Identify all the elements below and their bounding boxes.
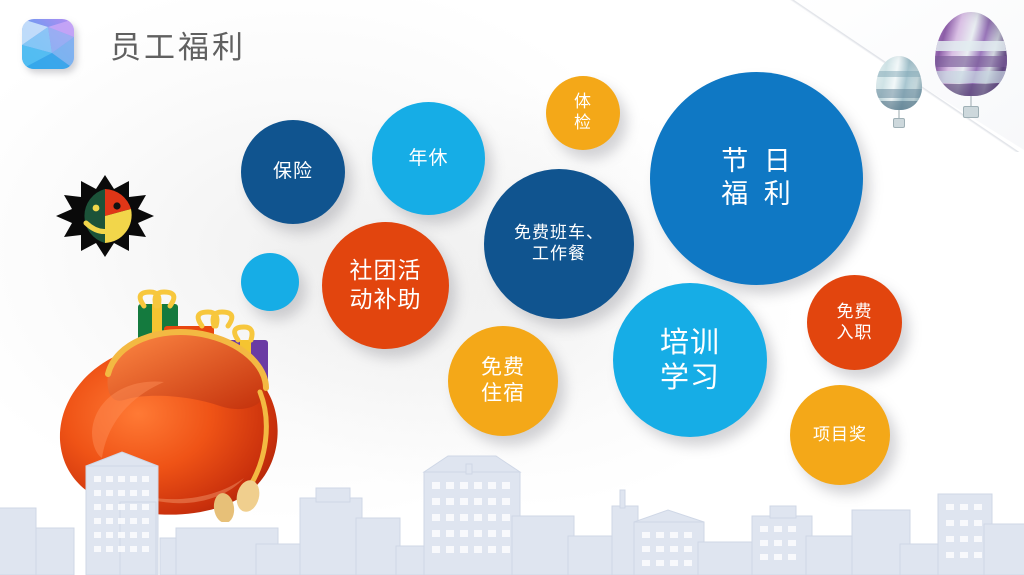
- hot-air-balloon-large: [935, 12, 1007, 117]
- star-face-clipart: [55, 175, 155, 257]
- benefit-bubble-training-study[interactable]: 培训 学习: [613, 283, 767, 437]
- benefit-bubble-label: 社团活 动补助: [350, 257, 422, 313]
- benefit-bubble-free-onboarding[interactable]: 免费 入职: [807, 275, 902, 370]
- benefit-bubble-label: 培训 学习: [660, 325, 720, 396]
- benefit-bubble-project-award[interactable]: 项目奖: [790, 385, 890, 485]
- benefit-bubble-insurance[interactable]: 保险: [241, 120, 345, 224]
- benefit-bubble-free-housing[interactable]: 免费 住宿: [448, 326, 558, 436]
- gradient-app-icon: [22, 19, 74, 69]
- benefit-bubble-label: 免费 住宿: [481, 355, 525, 406]
- benefit-bubble-shuttle-meals[interactable]: 免费班车、 工作餐: [484, 169, 634, 319]
- benefit-bubble-label: 保险: [273, 160, 313, 183]
- slide-canvas: 员工福利: [0, 0, 1024, 575]
- title-app-icon: [22, 19, 74, 69]
- benefit-bubble-label: 体 检: [574, 92, 592, 133]
- benefit-bubble-label: 免费班车、 工作餐: [514, 223, 604, 264]
- benefit-bubble-health-checkup[interactable]: 体 检: [546, 76, 620, 150]
- page-title: 员工福利: [110, 22, 246, 67]
- benefit-bubble-holiday-benefit[interactable]: 节 日 福 利: [650, 72, 863, 285]
- benefit-bubble-label: 项目奖: [813, 425, 867, 446]
- benefit-bubble-label: 年休: [408, 147, 448, 170]
- benefit-bubble-annual-leave[interactable]: 年休: [372, 102, 485, 215]
- benefit-bubble-label: 免费 入职: [837, 302, 873, 343]
- benefit-bubble-small-accent[interactable]: [241, 253, 299, 311]
- benefit-bubble-club-subsidy[interactable]: 社团活 动补助: [322, 222, 449, 349]
- hot-air-balloon-small: [876, 56, 922, 126]
- benefit-bubble-label: 节 日 福 利: [721, 146, 792, 212]
